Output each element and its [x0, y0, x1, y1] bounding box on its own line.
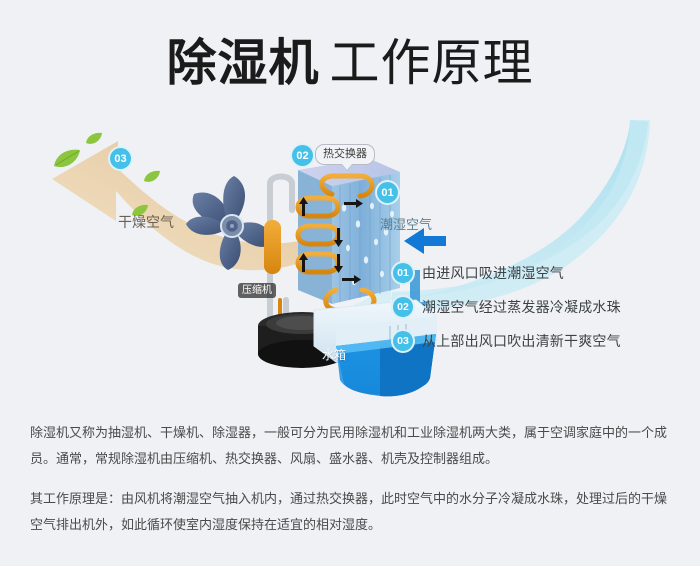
legend-label: 由进风口吸进潮湿空气	[422, 263, 564, 283]
legend-badge: 03	[393, 331, 413, 351]
leaf-icon	[84, 130, 106, 150]
label-compressor: 压缩机	[238, 283, 276, 298]
callout-heat-exchanger: 热交换器	[315, 144, 375, 165]
legend-list: 01 由进风口吸进潮湿空气 02 潮湿空气经过蒸发器冷凝成水珠 03 从上部出风…	[393, 256, 693, 358]
legend-item: 02 潮湿空气经过蒸发器冷凝成水珠	[393, 290, 693, 324]
body-copy: 除湿机又称为抽湿机、干燥机、除湿器，一般可分为民用除湿机和工业除湿机两大类，属于…	[30, 420, 675, 538]
page-title-part2: 工作原理	[330, 35, 534, 91]
badge-03: 03	[110, 148, 131, 169]
badge-01: 01	[377, 182, 398, 203]
page-title: 除湿机工作原理	[0, 34, 700, 92]
badge-02: 02	[292, 145, 313, 166]
legend-item: 03 从上部出风口吹出清新干爽空气	[393, 324, 693, 358]
paragraph-principle: 其工作原理是：由风机将潮湿空气抽入机内，通过热交换器，此时空气中的水分子冷凝成水…	[30, 486, 675, 538]
page-title-part1: 除湿机	[167, 35, 320, 91]
label-dry-air: 干燥空气	[118, 212, 174, 232]
legend-badge: 02	[393, 297, 413, 317]
legend-label: 潮湿空气经过蒸发器冷凝成水珠	[422, 297, 621, 317]
legend-item: 01 由进风口吸进潮湿空气	[393, 256, 693, 290]
label-water-tank: 水箱	[322, 346, 346, 363]
legend-badge: 01	[393, 263, 413, 283]
leaf-icon	[142, 168, 164, 188]
legend-label: 从上部出风口吹出清新干爽空气	[422, 331, 621, 351]
infographic-page: 除湿机工作原理	[0, 0, 700, 566]
label-humid-air: 潮湿空气	[380, 214, 432, 233]
paragraph-definition: 除湿机又称为抽湿机、干燥机、除湿器，一般可分为民用除湿机和工业除湿机两大类，属于…	[30, 420, 675, 472]
